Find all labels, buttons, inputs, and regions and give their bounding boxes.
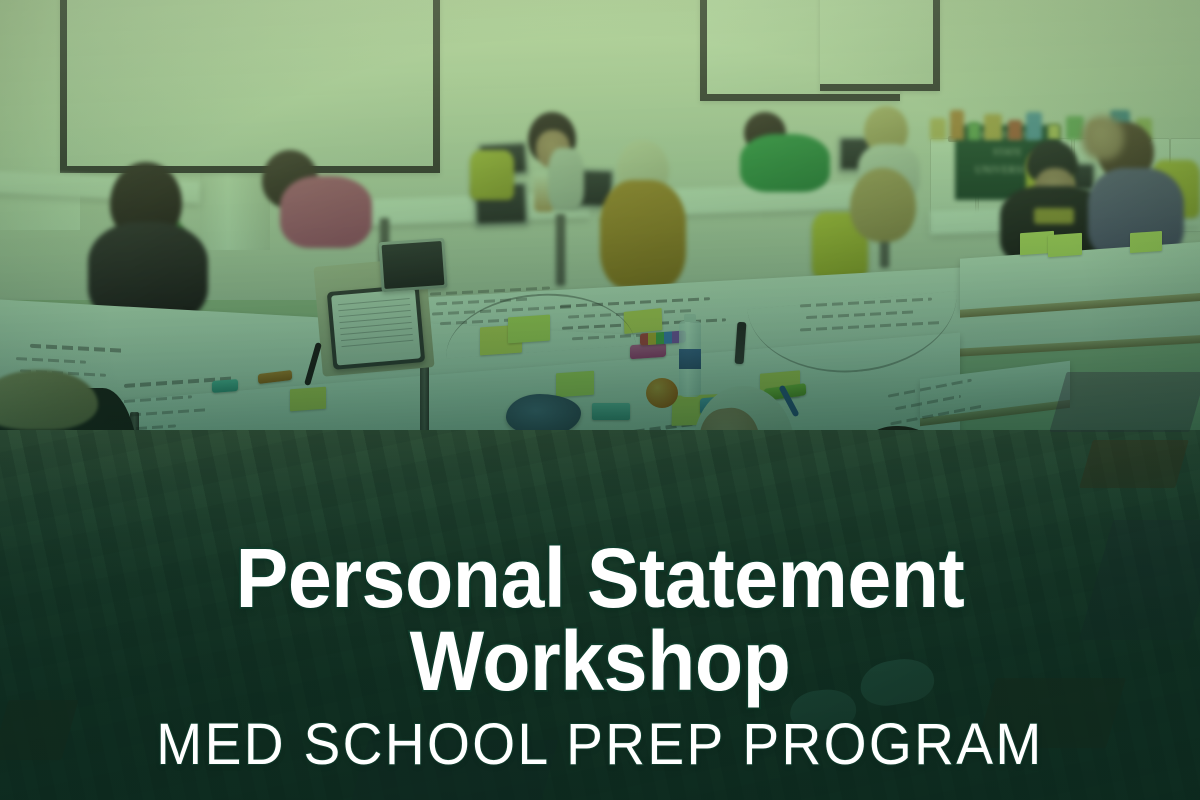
- poster-subtitle: MED SCHOOL PREP PROGRAM: [30, 716, 1170, 774]
- poster-title-line-1: Personal Statement: [36, 537, 1164, 619]
- poster-title: Personal Statement Workshop: [36, 537, 1164, 702]
- poster-title-line-2: Workshop: [36, 620, 1164, 702]
- promotional-poster: MICHIGAN STATE UNIVERSITY: [0, 0, 1200, 800]
- poster-text-block: Personal Statement Workshop MED SCHOOL P…: [0, 537, 1200, 774]
